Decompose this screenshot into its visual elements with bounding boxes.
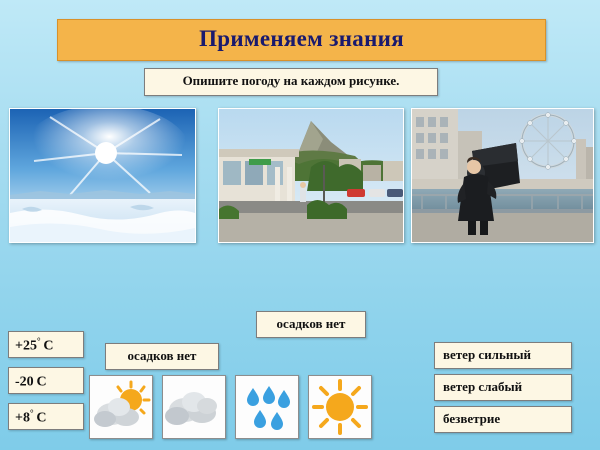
temperature-label-2: -20 C (8, 367, 84, 394)
wind-text-1: ветер сильный (443, 347, 531, 363)
sun-icon (308, 375, 372, 439)
temperature-value-3: +8° C (15, 408, 47, 427)
winter-snow-field-photo (9, 108, 196, 243)
sun-behind-cloud-icon (89, 375, 153, 439)
wind-label-1: ветер сильный (434, 342, 572, 369)
precipitation-label-1: осадков нет (256, 311, 366, 338)
wind-text-2: ветер слабый (443, 379, 522, 395)
precipitation-text-2: осадков нет (106, 348, 218, 364)
temperature-value-1: +25° C (15, 336, 54, 355)
slide-canvas: Применяем знания Опишите погоду на каждо… (0, 0, 600, 450)
wind-label-2: ветер слабый (434, 374, 572, 401)
temperature-value-2: -20 C (15, 372, 47, 391)
precipitation-text-1: осадков нет (257, 316, 365, 332)
man-with-umbrella-wind-photo (411, 108, 594, 243)
page-title: Применяем знания (58, 26, 545, 52)
summer-town-mountain-photo (218, 108, 404, 243)
rain-drops-icon (235, 375, 299, 439)
wind-label-3: безветрие (434, 406, 572, 433)
subtitle-text: Опишите погоду на каждом рисунке. (145, 73, 437, 89)
temperature-label-3: +8° C (8, 403, 84, 430)
precipitation-label-2: осадков нет (105, 343, 219, 370)
subtitle-box: Опишите погоду на каждом рисунке. (144, 68, 438, 96)
title-banner: Применяем знания (57, 19, 546, 61)
cloud-icon (162, 375, 226, 439)
wind-text-3: безветрие (443, 411, 500, 427)
temperature-label-1: +25° C (8, 331, 84, 358)
